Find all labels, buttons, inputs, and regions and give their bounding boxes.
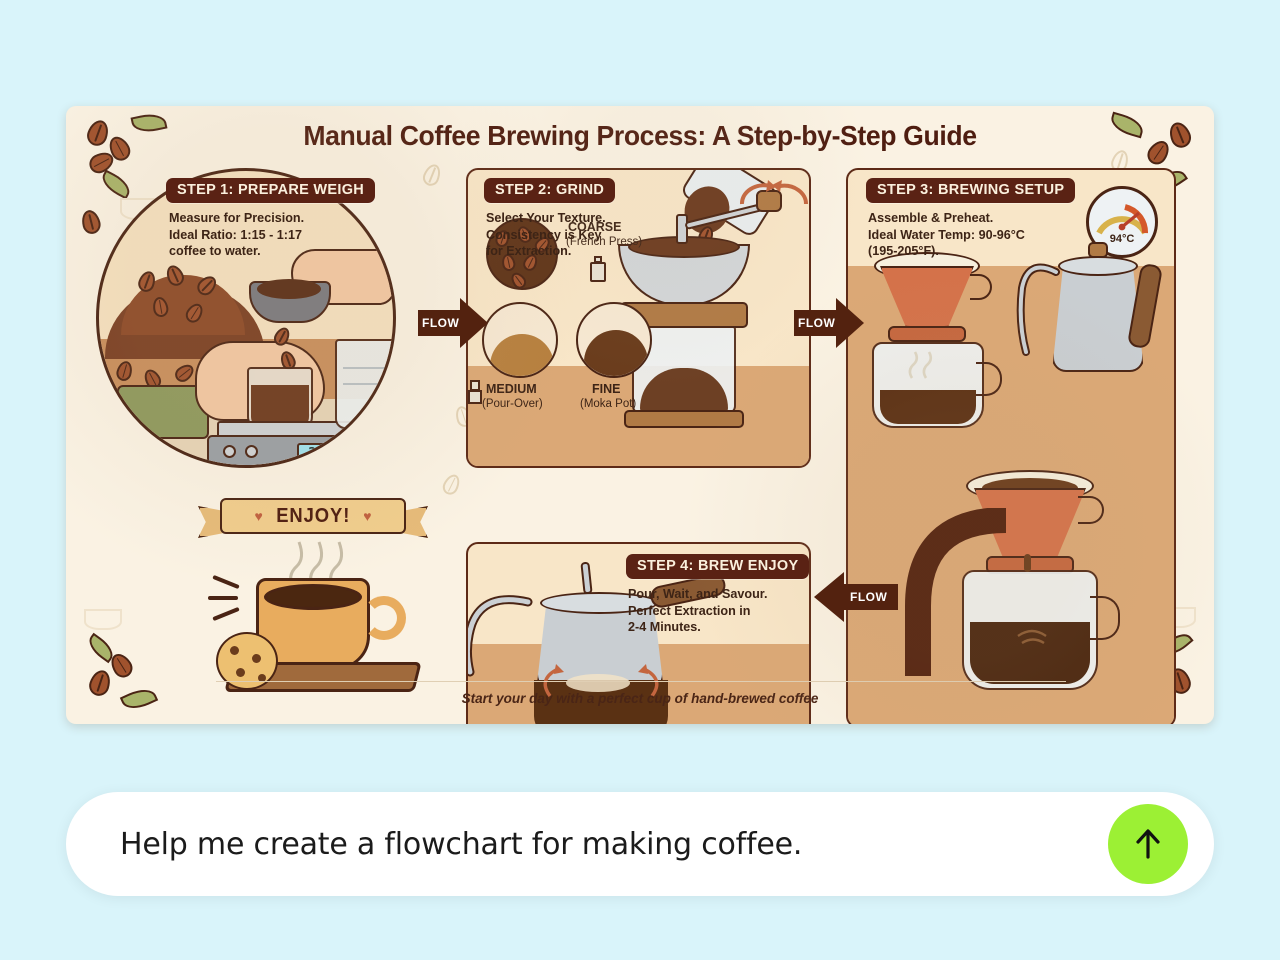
ghost-bean-decor — [420, 162, 443, 188]
step4-badge: STEP 4: BREW ENJOY — [626, 554, 809, 579]
grind-sample-fine — [576, 302, 652, 378]
footer-divider — [216, 681, 1066, 682]
rotate-arrow-icon — [736, 178, 811, 218]
finished-coffee-illustration — [194, 536, 454, 716]
kettle-spout — [1002, 250, 1066, 370]
grind-method-medium: (Pour-Over) — [482, 398, 543, 410]
flow-arrow-1-label: FLOW — [422, 316, 459, 330]
flow-arrow-3: FLOW — [814, 572, 898, 622]
arrow-up-icon — [1128, 824, 1168, 864]
step3-badge: STEP 3: BREWING SETUP — [866, 178, 1075, 203]
footer-note: Start your day with a perfect cup of han… — [66, 691, 1214, 706]
send-button[interactable] — [1108, 804, 1188, 884]
ghost-bean-decor — [440, 472, 463, 497]
flow-arrow-1: FLOW — [418, 298, 488, 348]
step2-badge: STEP 2: GRIND — [484, 178, 615, 203]
infographic-poster: Manual Coffee Brewing Process: A Step-by… — [66, 106, 1214, 724]
moka-pot-icon — [466, 380, 484, 404]
flow-arrow-2: FLOW — [794, 298, 864, 348]
flow-arrow-3-label: FLOW — [850, 590, 887, 604]
heart-icon-left: ♥ — [254, 508, 262, 524]
scale-display: 25.0g — [297, 443, 359, 463]
flow-elbow-connector — [888, 508, 1018, 698]
page-title: Manual Coffee Brewing Process: A Step-by… — [95, 120, 1186, 152]
step1-badge: STEP 1: PREPARE WEIGH — [166, 178, 375, 203]
step2-description: Select Your Texture. Consistency is Key … — [486, 210, 606, 260]
heart-icon-right: ♥ — [363, 508, 371, 524]
grind-sample-medium — [482, 302, 558, 378]
french-press-icon — [588, 256, 608, 282]
step1-description: Measure for Precision. Ideal Ratio: 1:15… — [169, 210, 304, 260]
flow-arrow-2-label: FLOW — [798, 316, 835, 330]
prompt-bar[interactable]: Help me create a flowchart for making co… — [66, 792, 1214, 896]
prompt-input[interactable]: Help me create a flowchart for making co… — [120, 827, 802, 862]
steam-icon — [902, 348, 942, 382]
grind-label-medium: MEDIUM — [486, 382, 537, 396]
grind-label-fine: FINE — [592, 382, 620, 396]
enjoy-banner-label: ENJOY! — [276, 505, 350, 528]
grind-method-fine: (Moka Pot) — [580, 398, 636, 410]
step3-description: Assemble & Preheat. Ideal Water Temp: 90… — [868, 210, 1025, 260]
step4-description: Pour, Wait, and Savour. Perfect Extracti… — [628, 586, 768, 636]
